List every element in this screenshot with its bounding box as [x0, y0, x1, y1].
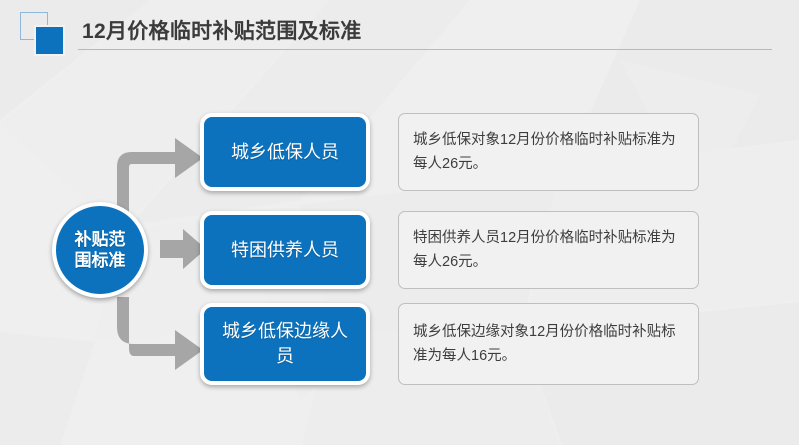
hub-label: 补贴范围标准 — [69, 229, 131, 271]
description-panel: 城乡低保对象12月份价格临时补贴标准为每人26元。 — [398, 113, 699, 191]
elbow-arrow-down-right-icon — [117, 297, 203, 370]
category-label: 城乡低保边缘人员 — [215, 319, 355, 369]
content-row: 特困供养人员 特困供养人员12月份价格临时补贴标准为每人26元。 — [200, 211, 699, 289]
description-text: 城乡低保边缘对象12月份价格临时补贴标准为每人16元。 — [399, 320, 698, 368]
content-row: 城乡低保边缘人员 城乡低保边缘对象12月份价格临时补贴标准为每人16元。 — [200, 303, 699, 385]
description-text: 特困供养人员12月份价格临时补贴标准为每人26元。 — [399, 226, 698, 274]
category-label: 城乡低保人员 — [215, 140, 355, 165]
description-panel: 特困供养人员12月份价格临时补贴标准为每人26元。 — [398, 211, 699, 289]
title-divider — [78, 49, 772, 50]
content-row: 城乡低保人员 城乡低保对象12月份价格临时补贴标准为每人26元。 — [200, 113, 699, 191]
category-box[interactable]: 城乡低保边缘人员 — [200, 303, 370, 385]
description-panel: 城乡低保边缘对象12月份价格临时补贴标准为每人16元。 — [398, 303, 699, 385]
logo-square-filled — [34, 25, 65, 56]
category-box[interactable]: 特困供养人员 — [200, 211, 370, 289]
page-title: 12月价格临时补贴范围及标准 — [82, 15, 362, 45]
overlapping-squares-icon — [20, 12, 70, 54]
slide-header: 12月价格临时补贴范围及标准 — [0, 0, 799, 62]
category-box[interactable]: 城乡低保人员 — [200, 113, 370, 191]
slide-canvas: 12月价格临时补贴范围及标准 补贴范围标准 城乡低保人员 城乡低保对象12月份价… — [0, 0, 799, 445]
hub-circle[interactable]: 补贴范围标准 — [52, 202, 148, 298]
description-text: 城乡低保对象12月份价格临时补贴标准为每人26元。 — [399, 128, 698, 176]
category-label: 特困供养人员 — [215, 238, 355, 263]
